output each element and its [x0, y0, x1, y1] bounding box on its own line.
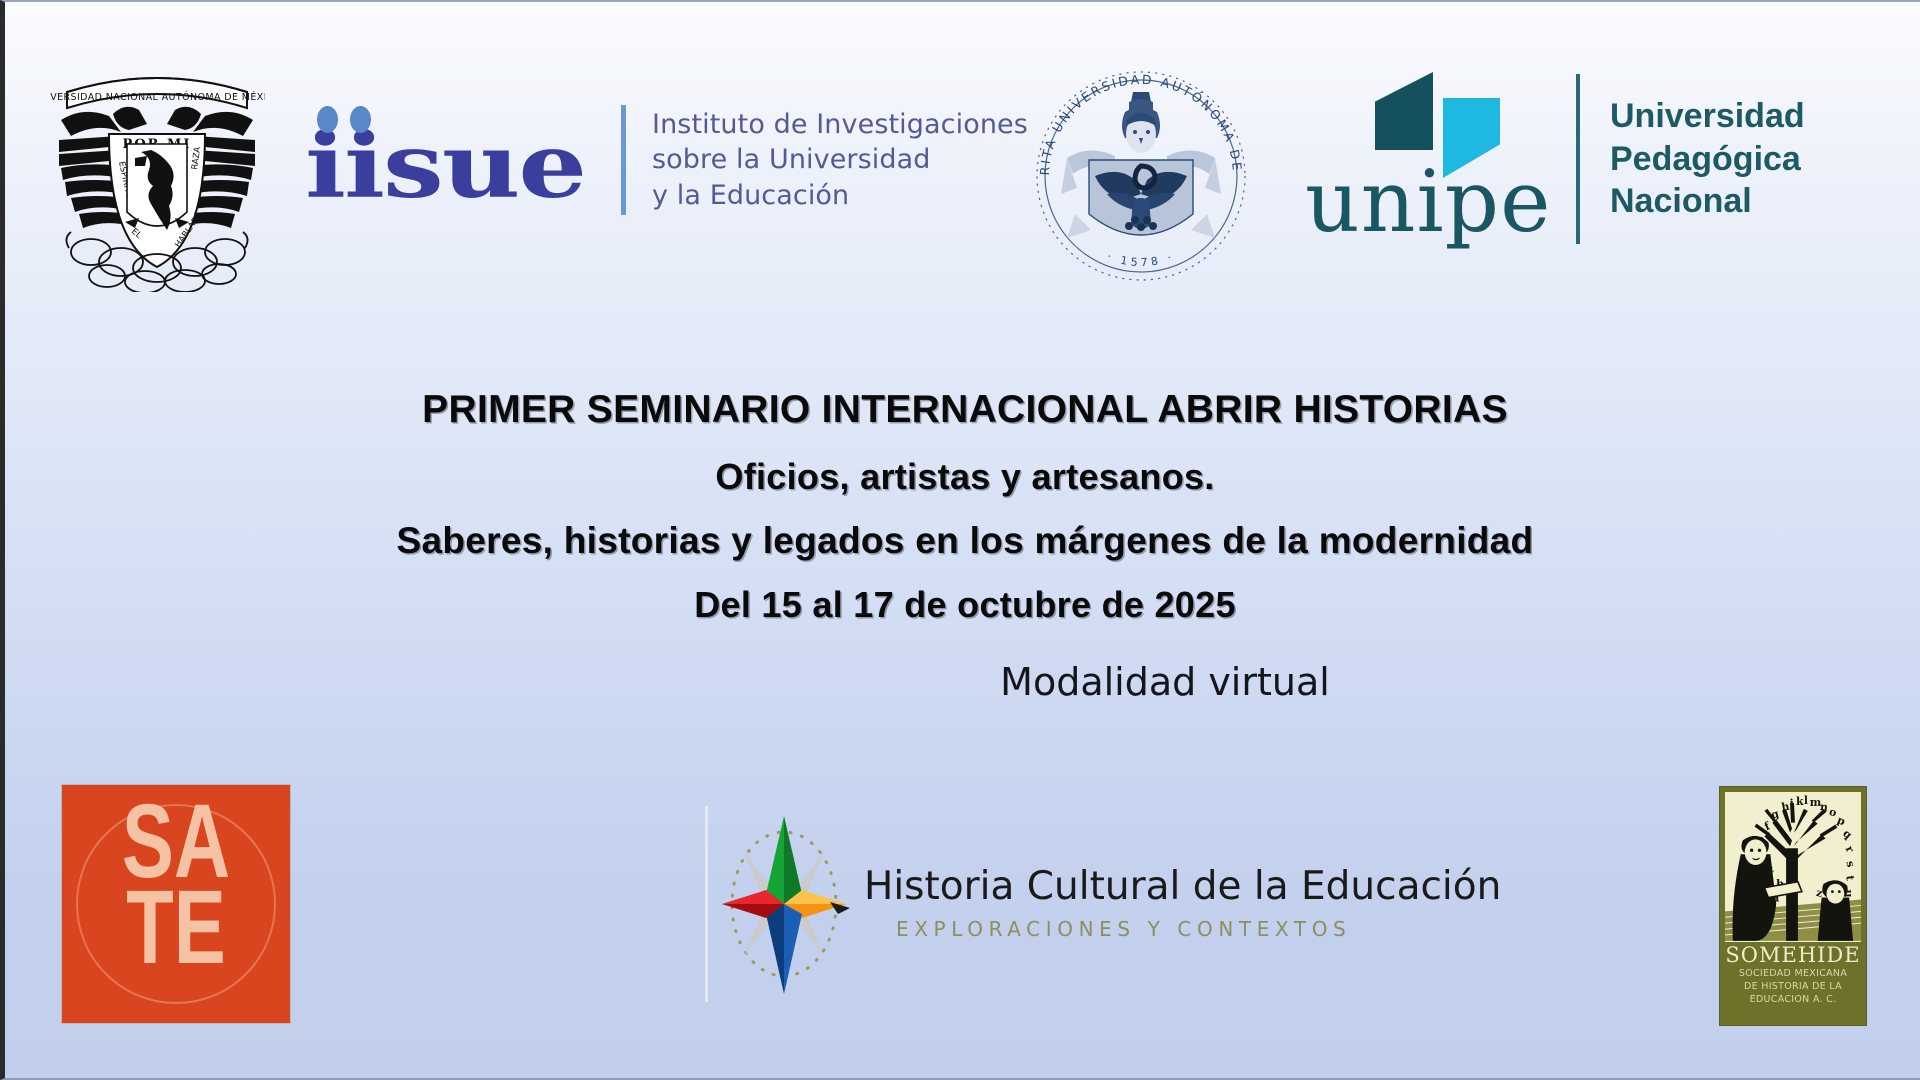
buap-logo: BENEMÉRITA UNIVERSIDAD AUTÓNOMA DE PUEBL…	[1023, 54, 1259, 294]
seminar-modality: Modalidad virtual	[5, 660, 1920, 704]
somehide-logo: g h i k l m n o p q r s t u f e d	[1719, 786, 1867, 1026]
iisue-subtitle-line1: Instituto de Investigaciones	[652, 107, 1028, 143]
iisue-umlaut-dots	[317, 106, 387, 136]
iisue-subtitle: Instituto de Investigaciones sobre la Un…	[652, 107, 1028, 214]
hce-subtitle: EXPLORACIONES Y CONTEXTOS	[896, 917, 1501, 941]
svg-text:TE: TE	[126, 868, 226, 986]
iisue-subtitle-line2: sobre la Universidad	[652, 142, 1028, 178]
iisue-divider	[621, 105, 626, 215]
seminar-theme: Saberes, historias y legados en los márg…	[5, 520, 1920, 562]
upn-line1: Universidad	[1610, 95, 1805, 138]
iisue-logo: iisue Instituto de Investigaciones sobre…	[305, 100, 1028, 220]
sate-logo: SA TE	[61, 784, 291, 1024]
compass-rose-icon	[718, 806, 850, 1002]
top-logo-bar: UNIVERSIDAD NACIONAL AUTÓNOMA DE MÉXICO	[5, 50, 1920, 290]
iisue-wordmark: iisue	[305, 100, 605, 220]
historia-cultural-logo: Historia Cultural de la Educación EXPLOR…	[705, 788, 1501, 1020]
upn-line2: Pedagógica	[1610, 138, 1805, 181]
somehide-illustration: g h i k l m n o p q r s t u f e d	[1725, 792, 1861, 942]
upn-name: Universidad Pedagógica Nacional	[1610, 95, 1805, 223]
svg-text:l: l	[1804, 794, 1808, 807]
seminar-title: PRIMER SEMINARIO INTERNACIONAL ABRIR HIS…	[5, 388, 1920, 432]
somehide-line3: EDUCACION A. C.	[1725, 994, 1861, 1007]
unipe-wordmark: unipe	[1305, 160, 1551, 245]
somehide-subtitle: SOCIEDAD MEXICANA DE HISTORIA DE LA EDUC…	[1725, 968, 1861, 1007]
somehide-line1: SOCIEDAD MEXICANA	[1725, 968, 1861, 981]
svg-text:UNIVERSIDAD NACIONAL AUTÓNOMA: UNIVERSIDAD NACIONAL AUTÓNOMA DE MÉXICO	[49, 91, 265, 103]
poster-canvas: UNIVERSIDAD NACIONAL AUTÓNOMA DE MÉXICO	[0, 0, 1920, 1080]
upn-line3: Nacional	[1610, 180, 1805, 223]
somehide-name: SOMEHIDE	[1725, 945, 1861, 966]
unipe-logo: unipe Universidad Pedagógica Nacional	[1305, 64, 1805, 254]
seminar-subtitle: Oficios, artistas y artesanos.	[5, 456, 1920, 498]
hce-divider	[705, 806, 708, 1002]
sate-letters: SA TE	[62, 785, 290, 1023]
unipe-divider	[1576, 74, 1580, 244]
iisue-subtitle-line3: y la Educación	[652, 178, 1028, 214]
svg-text:· 1578 ·: · 1578 ·	[1105, 250, 1176, 269]
somehide-line2: DE HISTORIA DE LA	[1725, 981, 1861, 994]
hce-title: Historia Cultural de la Educación	[864, 867, 1501, 906]
svg-text:k: k	[1796, 795, 1804, 808]
unam-logo: UNIVERSIDAD NACIONAL AUTÓNOMA DE MÉXICO	[49, 62, 265, 292]
seminar-dates: Del 15 al 17 de octubre de 2025	[5, 584, 1920, 626]
event-title-block: PRIMER SEMINARIO INTERNACIONAL ABRIR HIS…	[5, 388, 1920, 626]
